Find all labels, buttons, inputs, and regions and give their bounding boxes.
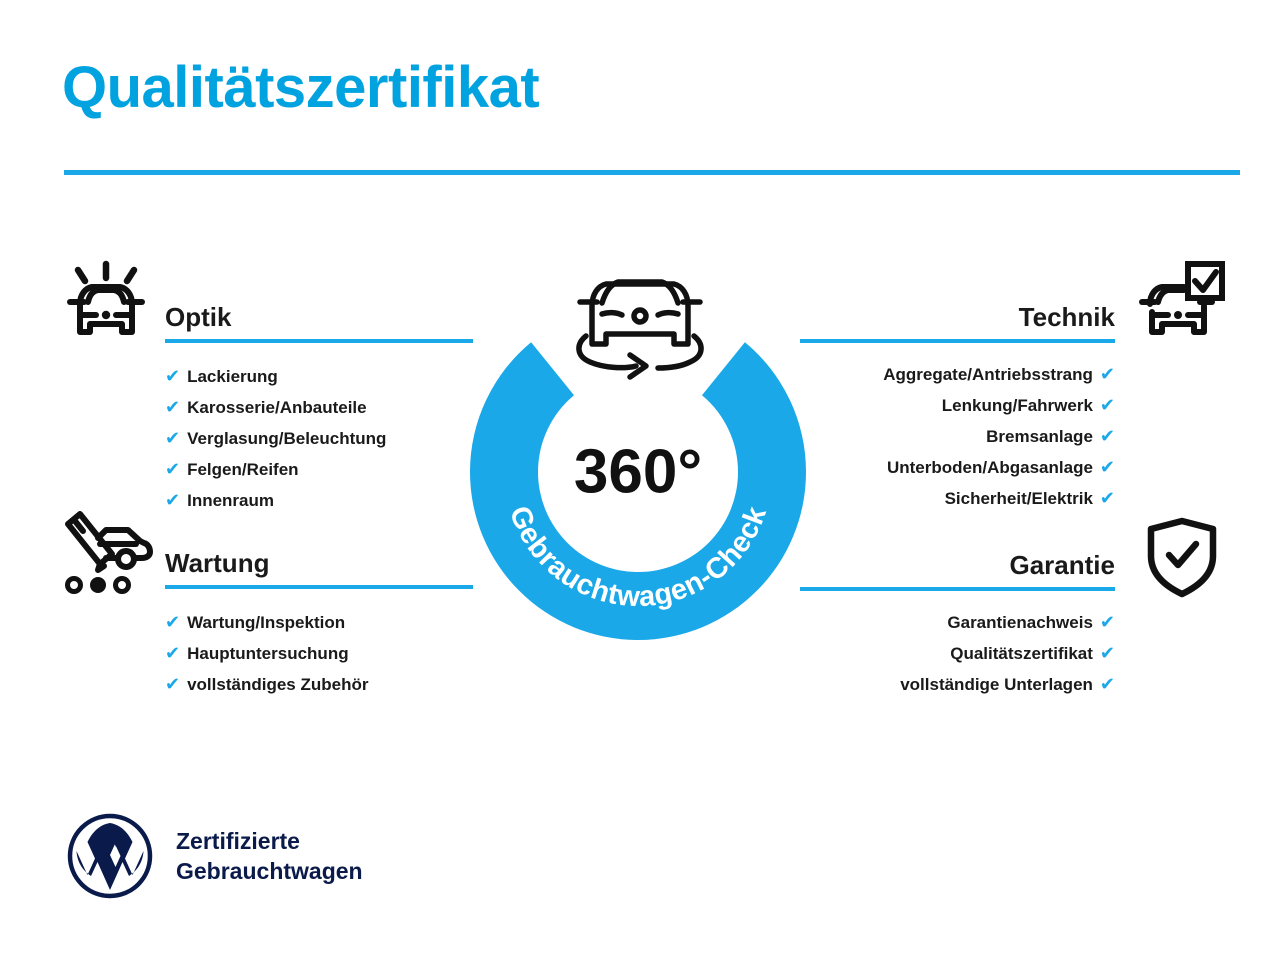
certificate-page: Qualitätszertifikat: [0, 0, 1280, 960]
list-item: vollständige Unterlagen✔: [800, 669, 1115, 700]
check-icon: ✔: [165, 607, 180, 637]
gebrauchtwagen-check-badge: 360° Gebrauchtwagen-Check: [468, 252, 812, 640]
list-item: ✔Lackierung: [165, 361, 473, 392]
list-item: ✔Innenraum: [165, 485, 473, 516]
pencil-car-icon: [58, 508, 158, 601]
check-icon: ✔: [165, 638, 180, 668]
list-item-label: Bremsanlage: [986, 422, 1093, 452]
list-item-label: Unterboden/Abgasanlage: [887, 453, 1093, 483]
check-icon: ✔: [1100, 390, 1115, 420]
check-icon: ✔: [1100, 607, 1115, 637]
list-item-label: Innenraum: [187, 486, 274, 516]
badge-value: 360°: [574, 438, 702, 507]
list-item-label: Karosserie/Anbauteile: [187, 393, 367, 423]
footer-label: Zertifizierte Gebrauchtwagen: [176, 826, 363, 886]
check-icon: ✔: [165, 423, 180, 453]
list-item: Sicherheit/Elektrik✔: [800, 483, 1115, 514]
list-item-label: Qualitätszertifikat: [950, 639, 1093, 669]
checklist-wartung: ✔Wartung/Inspektion ✔Hauptuntersuchung ✔…: [165, 607, 473, 700]
list-item-label: Lenkung/Fahrwerk: [942, 391, 1093, 421]
section-wartung: Wartung ✔Wartung/Inspektion ✔Hauptunters…: [165, 546, 473, 700]
section-header-garantie: Garantie: [800, 548, 1115, 594]
section-header-optik: Optik: [165, 300, 473, 346]
check-icon: ✔: [165, 485, 180, 515]
checklist-garantie: Garantienachweis✔ Qualitätszertifikat✔ v…: [800, 607, 1115, 700]
check-icon: ✔: [165, 454, 180, 484]
list-item-label: Garantienachweis: [947, 608, 1093, 638]
checklist-technik: Aggregate/Antriebsstrang✔ Lenkung/Fahrwe…: [800, 359, 1115, 514]
check-icon: ✔: [1100, 421, 1115, 451]
page-title: Qualitätszertifikat: [62, 58, 539, 119]
list-item: ✔vollständiges Zubehör: [165, 669, 473, 700]
car-shine-icon: [60, 258, 152, 355]
shield-check-icon: [1145, 516, 1219, 603]
list-item: Unterboden/Abgasanlage✔: [800, 452, 1115, 483]
list-item-label: Wartung/Inspektion: [187, 608, 345, 638]
list-item-label: Verglasung/Beleuchtung: [187, 424, 386, 454]
vw-certified-lockup: Zertifizierte Gebrauchtwagen: [66, 812, 363, 900]
list-item-label: Sicherheit/Elektrik: [945, 484, 1093, 514]
list-item: ✔Hauptuntersuchung: [165, 638, 473, 669]
check-icon: ✔: [1100, 452, 1115, 482]
section-title: Garantie: [800, 548, 1115, 582]
check-icon: ✔: [1100, 359, 1115, 389]
vw-logo: [66, 812, 154, 900]
list-item-label: vollständige Unterlagen: [900, 670, 1093, 700]
list-item-label: Lackierung: [187, 362, 278, 392]
list-item: Garantienachweis✔: [800, 607, 1115, 638]
list-item-label: Hauptuntersuchung: [187, 639, 349, 669]
section-header-technik: Technik: [800, 300, 1115, 346]
list-item: ✔Felgen/Reifen: [165, 454, 473, 485]
checklist-optik: ✔Lackierung ✔Karosserie/Anbauteile ✔Verg…: [165, 361, 473, 516]
list-item: Qualitätszertifikat✔: [800, 638, 1115, 669]
section-divider: [165, 585, 473, 589]
check-icon: ✔: [1100, 638, 1115, 668]
section-title: Optik: [165, 300, 473, 334]
list-item-label: Felgen/Reifen: [187, 455, 298, 485]
section-technik: Technik Aggregate/Antriebsstrang✔ Lenkun…: [800, 300, 1115, 514]
section-title: Wartung: [165, 546, 473, 580]
section-header-wartung: Wartung: [165, 546, 473, 592]
list-item: Lenkung/Fahrwerk✔: [800, 390, 1115, 421]
section-title: Technik: [800, 300, 1115, 334]
list-item-label: Aggregate/Antriebsstrang: [883, 360, 1093, 390]
list-item: Aggregate/Antriebsstrang✔: [800, 359, 1115, 390]
list-item: Bremsanlage✔: [800, 421, 1115, 452]
check-icon: ✔: [1100, 483, 1115, 513]
car-checkbox-icon: [1138, 260, 1226, 353]
list-item: ✔Wartung/Inspektion: [165, 607, 473, 638]
title-divider: [64, 170, 1240, 175]
list-item-label: vollständiges Zubehör: [187, 670, 368, 700]
section-divider: [800, 587, 1115, 591]
section-garantie: Garantie Garantienachweis✔ Qualitätszert…: [800, 548, 1115, 700]
list-item: ✔Verglasung/Beleuchtung: [165, 423, 473, 454]
car-rotate-icon: [579, 282, 701, 377]
check-icon: ✔: [165, 361, 180, 391]
check-icon: ✔: [165, 669, 180, 699]
check-icon: ✔: [1100, 669, 1115, 699]
list-item: ✔Karosserie/Anbauteile: [165, 392, 473, 423]
section-divider: [165, 339, 473, 343]
section-divider: [800, 339, 1115, 343]
check-icon: ✔: [165, 392, 180, 422]
section-optik: Optik ✔Lackierung ✔Karosserie/Anbauteile…: [165, 300, 473, 516]
